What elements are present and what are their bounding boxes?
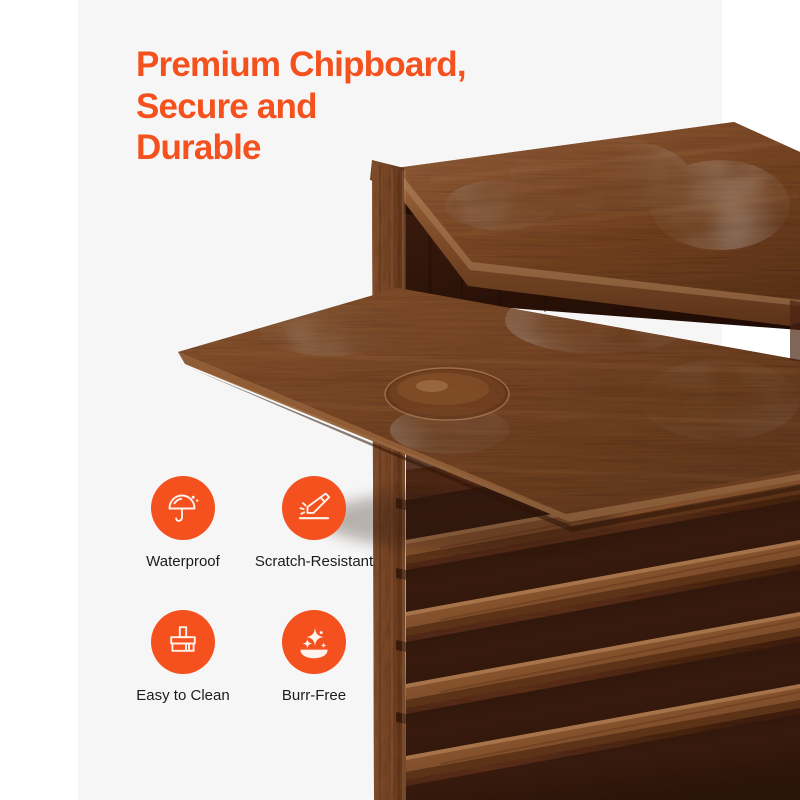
feature-icon-circle [282, 476, 346, 540]
feature-label: Easy to Clean [136, 688, 229, 705]
feature-label: Scratch-Resistant [255, 554, 373, 571]
feature-burr-free: Burr-Free [248, 610, 380, 744]
feature-scratch-resistant: Scratch-Resistant [248, 476, 380, 610]
knife-scratch-icon [294, 488, 334, 528]
feature-easy-to-clean: Easy to Clean [128, 610, 238, 744]
feature-label: Waterproof [146, 554, 220, 571]
right-body-sliver [790, 300, 800, 362]
headline-line-2: Secure and [136, 86, 466, 128]
water-droplet-stain [385, 368, 509, 420]
brush-icon [163, 622, 203, 662]
page-title: Premium Chipboard, Secure and Durable [136, 44, 466, 169]
feature-icon-circle [151, 610, 215, 674]
headline-line-3: Durable [136, 127, 466, 169]
umbrella-icon [163, 488, 203, 528]
feature-label: Burr-Free [282, 688, 346, 705]
product-feature-screenshot: Premium Chipboard, Secure and Durable Wa… [0, 0, 800, 800]
feature-icon-circle [282, 610, 346, 674]
feature-icon-circle [151, 476, 215, 540]
sparkle-bowl-icon [294, 622, 334, 662]
headline-line-1: Premium Chipboard, [136, 44, 466, 86]
feature-waterproof: Waterproof [128, 476, 238, 610]
feature-badge-grid: Waterproof Scratch-Resistant [128, 476, 380, 744]
